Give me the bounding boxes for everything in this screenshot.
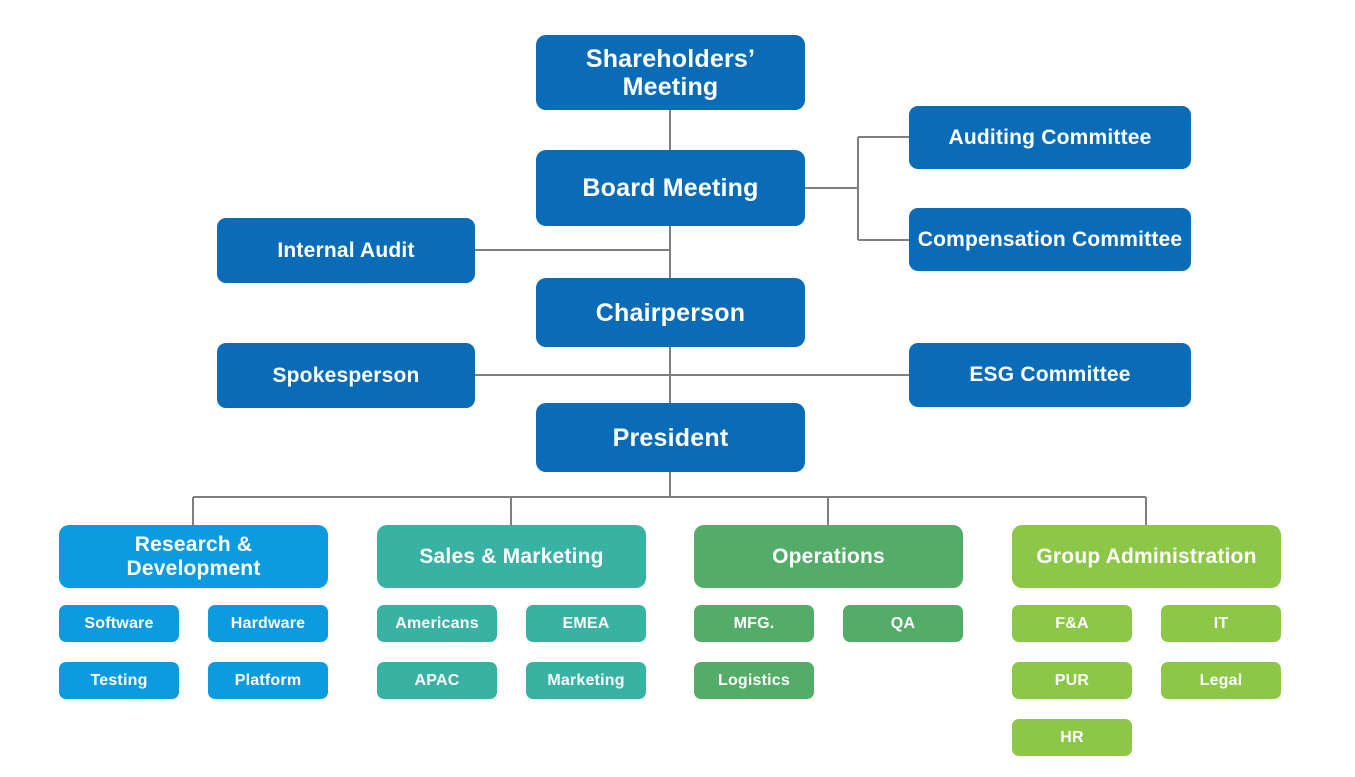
node-label: IT (1167, 615, 1275, 633)
node-label: MFG. (700, 615, 808, 633)
node-label: Platform (214, 672, 322, 690)
node-label: Spokesperson (223, 364, 469, 388)
node-label: Hardware (214, 615, 322, 633)
node-label: Legal (1167, 672, 1275, 690)
node-unit-marketing[interactable]: Marketing (526, 662, 646, 699)
node-compensation-committee[interactable]: Compensation Committee (909, 208, 1191, 271)
node-label: EMEA (532, 615, 640, 633)
node-spokesperson[interactable]: Spokesperson (217, 343, 475, 408)
node-unit-platform[interactable]: Platform (208, 662, 328, 699)
node-auditing-committee[interactable]: Auditing Committee (909, 106, 1191, 169)
node-unit-legal[interactable]: Legal (1161, 662, 1281, 699)
node-label: Auditing Committee (915, 126, 1185, 150)
node-label: Logistics (700, 672, 808, 690)
node-label: Operations (700, 545, 957, 569)
node-unit-logistics[interactable]: Logistics (694, 662, 814, 699)
node-unit-testing[interactable]: Testing (59, 662, 179, 699)
node-label: Americans (383, 615, 491, 633)
node-unit-apac[interactable]: APAC (377, 662, 497, 699)
node-unit-hr[interactable]: HR (1012, 719, 1132, 756)
node-label: Board Meeting (542, 174, 799, 202)
node-unit-emea[interactable]: EMEA (526, 605, 646, 642)
node-label: Sales & Marketing (383, 545, 640, 569)
node-unit-pur[interactable]: PUR (1012, 662, 1132, 699)
node-chairperson[interactable]: Chairperson (536, 278, 805, 347)
node-shareholders-meeting[interactable]: Shareholders’ Meeting (536, 35, 805, 110)
node-label: PUR (1018, 672, 1126, 690)
node-label: QA (849, 615, 957, 633)
node-unit-software[interactable]: Software (59, 605, 179, 642)
node-department-operations[interactable]: Operations (694, 525, 963, 588)
node-label: APAC (383, 672, 491, 690)
node-board-meeting[interactable]: Board Meeting (536, 150, 805, 226)
node-label: Research & Development (65, 533, 322, 580)
node-label: Testing (65, 672, 173, 690)
org-chart-canvas: Shareholders’ Meeting Board Meeting Audi… (0, 0, 1355, 777)
node-department-research-development[interactable]: Research & Development (59, 525, 328, 588)
node-unit-hardware[interactable]: Hardware (208, 605, 328, 642)
node-unit-mfg[interactable]: MFG. (694, 605, 814, 642)
node-unit-fa[interactable]: F&A (1012, 605, 1132, 642)
node-esg-committee[interactable]: ESG Committee (909, 343, 1191, 407)
node-label: Compensation Committee (915, 228, 1185, 252)
node-label: Group Administration (1018, 545, 1275, 569)
node-unit-qa[interactable]: QA (843, 605, 963, 642)
node-label: F&A (1018, 615, 1126, 633)
node-label: Internal Audit (223, 239, 469, 263)
node-label: Chairperson (542, 299, 799, 327)
node-internal-audit[interactable]: Internal Audit (217, 218, 475, 283)
node-unit-americans[interactable]: Americans (377, 605, 497, 642)
node-label: Software (65, 615, 173, 633)
node-department-sales-marketing[interactable]: Sales & Marketing (377, 525, 646, 588)
node-label: HR (1018, 729, 1126, 747)
node-label: ESG Committee (915, 363, 1185, 387)
node-label: President (542, 424, 799, 452)
node-unit-it[interactable]: IT (1161, 605, 1281, 642)
node-president[interactable]: President (536, 403, 805, 472)
node-label: Marketing (532, 672, 640, 690)
node-label: Shareholders’ Meeting (542, 45, 799, 101)
node-department-group-administration[interactable]: Group Administration (1012, 525, 1281, 588)
